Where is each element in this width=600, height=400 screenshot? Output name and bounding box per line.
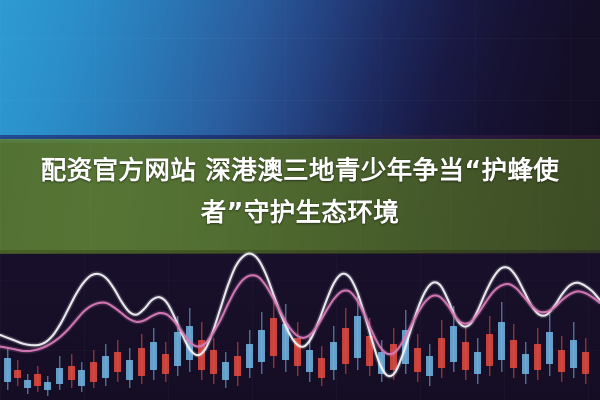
- candle-body: [186, 326, 193, 360]
- candle-body: [570, 340, 577, 368]
- candlestick: [78, 238, 85, 400]
- candle-body: [174, 332, 181, 366]
- candlestick: [174, 238, 181, 400]
- candlestick: [318, 238, 325, 400]
- candlestick: [402, 238, 409, 400]
- candle-body: [78, 370, 85, 386]
- candlestick: [354, 238, 361, 400]
- candlestick: [534, 238, 541, 400]
- candle-body: [342, 328, 349, 364]
- candle-body: [402, 330, 409, 364]
- candle-body: [366, 336, 373, 366]
- candle-body: [294, 338, 301, 366]
- candle-body: [258, 330, 265, 362]
- candlestick: [4, 238, 11, 400]
- candlestick: [234, 238, 241, 400]
- candle-body: [390, 344, 397, 370]
- candlestick: [270, 238, 277, 400]
- sky-gradient-backdrop: [0, 0, 600, 143]
- candle-body: [414, 348, 421, 372]
- candle-body: [354, 316, 361, 358]
- candle-body: [138, 348, 145, 376]
- candle-body: [90, 362, 97, 382]
- candlestick: [126, 238, 133, 400]
- candlestick: [162, 238, 169, 400]
- candle-body: [68, 366, 75, 380]
- candle-body: [246, 344, 253, 368]
- candlestick: [582, 238, 589, 400]
- candle-body: [510, 340, 517, 368]
- candlestick: [342, 238, 349, 400]
- candle-body: [450, 326, 457, 362]
- candlestick: [438, 238, 445, 400]
- candlestick: [14, 238, 21, 400]
- candle-body: [498, 322, 505, 360]
- candle-body: [462, 342, 469, 370]
- candle-body: [306, 350, 313, 372]
- candle-body: [474, 352, 481, 374]
- candlestick: [150, 238, 157, 400]
- candle-body: [102, 356, 109, 378]
- candle-body: [438, 338, 445, 368]
- candlestick: [246, 238, 253, 400]
- candlestick: [44, 238, 51, 400]
- title-band-bottom-edge: [0, 250, 600, 254]
- candle-body: [114, 352, 121, 372]
- candlestick: [138, 238, 145, 400]
- candlestick: [378, 238, 385, 400]
- candle-body: [34, 374, 41, 386]
- candlestick: [558, 238, 565, 400]
- candlestick: [522, 238, 529, 400]
- candle-body: [14, 370, 21, 378]
- candlestick: [102, 238, 109, 400]
- stock-banner-image: 配资官方网站 深港澳三地青少年争当“护蜂使者”守护生态环境: [0, 0, 600, 400]
- candle-body: [426, 356, 433, 376]
- candle-body: [582, 352, 589, 374]
- candle-body: [534, 344, 541, 370]
- candlestick: [510, 238, 517, 400]
- title-band-top-edge: [0, 139, 600, 140]
- candlestick: [294, 238, 301, 400]
- candle-body: [546, 332, 553, 364]
- candlestick: [68, 238, 75, 400]
- candle-body: [24, 380, 31, 388]
- candlestick: [24, 238, 31, 400]
- candle-body: [282, 324, 289, 360]
- candle-body: [486, 334, 493, 366]
- candlestick: [306, 238, 313, 400]
- candlestick: [366, 238, 373, 400]
- candle-body: [522, 354, 529, 374]
- candlestick: [56, 238, 63, 400]
- candle-body: [126, 360, 133, 380]
- candlestick: [390, 238, 397, 400]
- candle-body: [44, 382, 51, 390]
- candle-body: [150, 342, 157, 370]
- candlestick: [486, 238, 493, 400]
- candle-body: [330, 342, 337, 370]
- candle-body: [318, 358, 325, 378]
- candlestick: [570, 238, 577, 400]
- candlestick-series: [0, 238, 600, 400]
- candlestick: [198, 238, 205, 400]
- candle-body: [558, 350, 565, 372]
- candle-body: [56, 368, 63, 384]
- candlestick: [34, 238, 41, 400]
- candlestick: [474, 238, 481, 400]
- candlestick: [546, 238, 553, 400]
- candlestick: [222, 238, 229, 400]
- candlestick: [90, 238, 97, 400]
- candlestick: [282, 238, 289, 400]
- candle-body: [222, 362, 229, 380]
- candlestick: [498, 238, 505, 400]
- candlestick: [210, 238, 217, 400]
- candlestick: [462, 238, 469, 400]
- candlestick: [330, 238, 337, 400]
- page-title: 配资官方网站 深港澳三地青少年争当“护蜂使者”守护生态环境: [0, 150, 600, 234]
- candlestick: [258, 238, 265, 400]
- candle-body: [210, 350, 217, 374]
- candlestick: [450, 238, 457, 400]
- candle-body: [162, 354, 169, 374]
- candle-body: [198, 340, 205, 370]
- candlestick: [114, 238, 121, 400]
- candlestick: [426, 238, 433, 400]
- candle-body: [270, 318, 277, 356]
- candlestick: [414, 238, 421, 400]
- candle-body: [378, 352, 385, 374]
- candle-body: [234, 356, 241, 376]
- candle-body: [4, 358, 11, 382]
- candlestick: [186, 238, 193, 400]
